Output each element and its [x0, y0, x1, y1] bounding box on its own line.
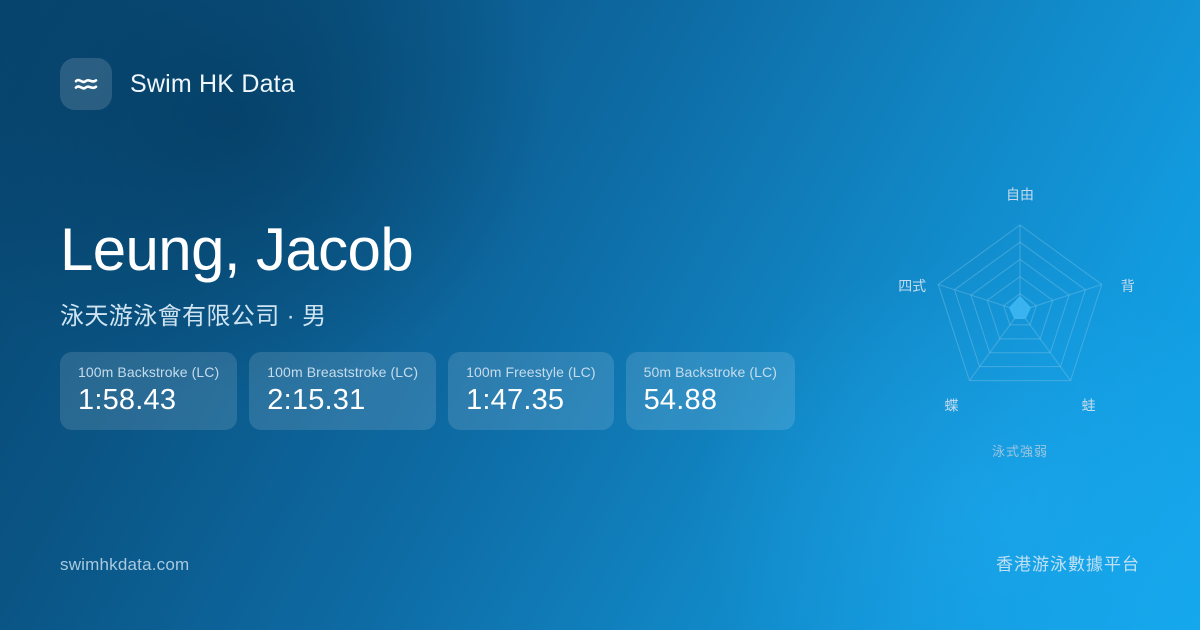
radar-axis-label: 自由: [1006, 187, 1034, 203]
stat-card: 100m Freestyle (LC) 1:47.35: [448, 352, 614, 430]
headline-block: Leung, Jacob 泳天游泳會有限公司 · 男: [60, 218, 413, 331]
radar-spoke: [1020, 311, 1071, 381]
stat-card: 50m Backstroke (LC) 54.88: [626, 352, 795, 430]
stat-card-label: 100m Backstroke (LC): [78, 364, 219, 380]
stroke-strength-radar-chart: 自由背蛙蝶四式: [870, 170, 1170, 470]
stat-card-value: 1:47.35: [466, 384, 596, 417]
stat-card: 100m Breaststroke (LC) 2:15.31: [249, 352, 436, 430]
footer-tagline: 香港游泳數據平台: [996, 550, 1140, 575]
stat-card-value: 54.88: [644, 384, 777, 417]
radar-spoke: [969, 311, 1020, 381]
stat-card-value: 2:15.31: [267, 384, 418, 417]
stat-card-label: 100m Breaststroke (LC): [267, 364, 418, 380]
stat-card-row: 100m Backstroke (LC) 1:58.43 100m Breast…: [60, 352, 795, 430]
stat-card-label: 100m Freestyle (LC): [466, 364, 596, 380]
wave-approx-icon: [60, 58, 112, 110]
radar-axis-label: 蝶: [945, 397, 959, 413]
radar-axis-label: 蛙: [1082, 397, 1096, 413]
radar-axis-label: 背: [1121, 278, 1135, 294]
radar-data-area: [1010, 297, 1030, 318]
page-title: Leung, Jacob: [60, 218, 413, 282]
athlete-meta: 泳天游泳會有限公司 · 男: [60, 296, 413, 331]
stat-card-label: 50m Backstroke (LC): [644, 364, 777, 380]
brand-name: Swim HK Data: [130, 70, 295, 99]
radar-axis-label: 四式: [898, 278, 926, 294]
og-preview-card: Swim HK Data Leung, Jacob 泳天游泳會有限公司 · 男 …: [0, 0, 1200, 630]
footer-domain: swimhkdata.com: [60, 555, 189, 575]
radar-spoke: [938, 284, 1020, 311]
brand-header: Swim HK Data: [60, 58, 295, 110]
stat-card-value: 1:58.43: [78, 384, 219, 417]
radar-caption: 泳式強弱: [870, 441, 1170, 460]
stat-card: 100m Backstroke (LC) 1:58.43: [60, 352, 237, 430]
radar-spoke: [1020, 284, 1102, 311]
